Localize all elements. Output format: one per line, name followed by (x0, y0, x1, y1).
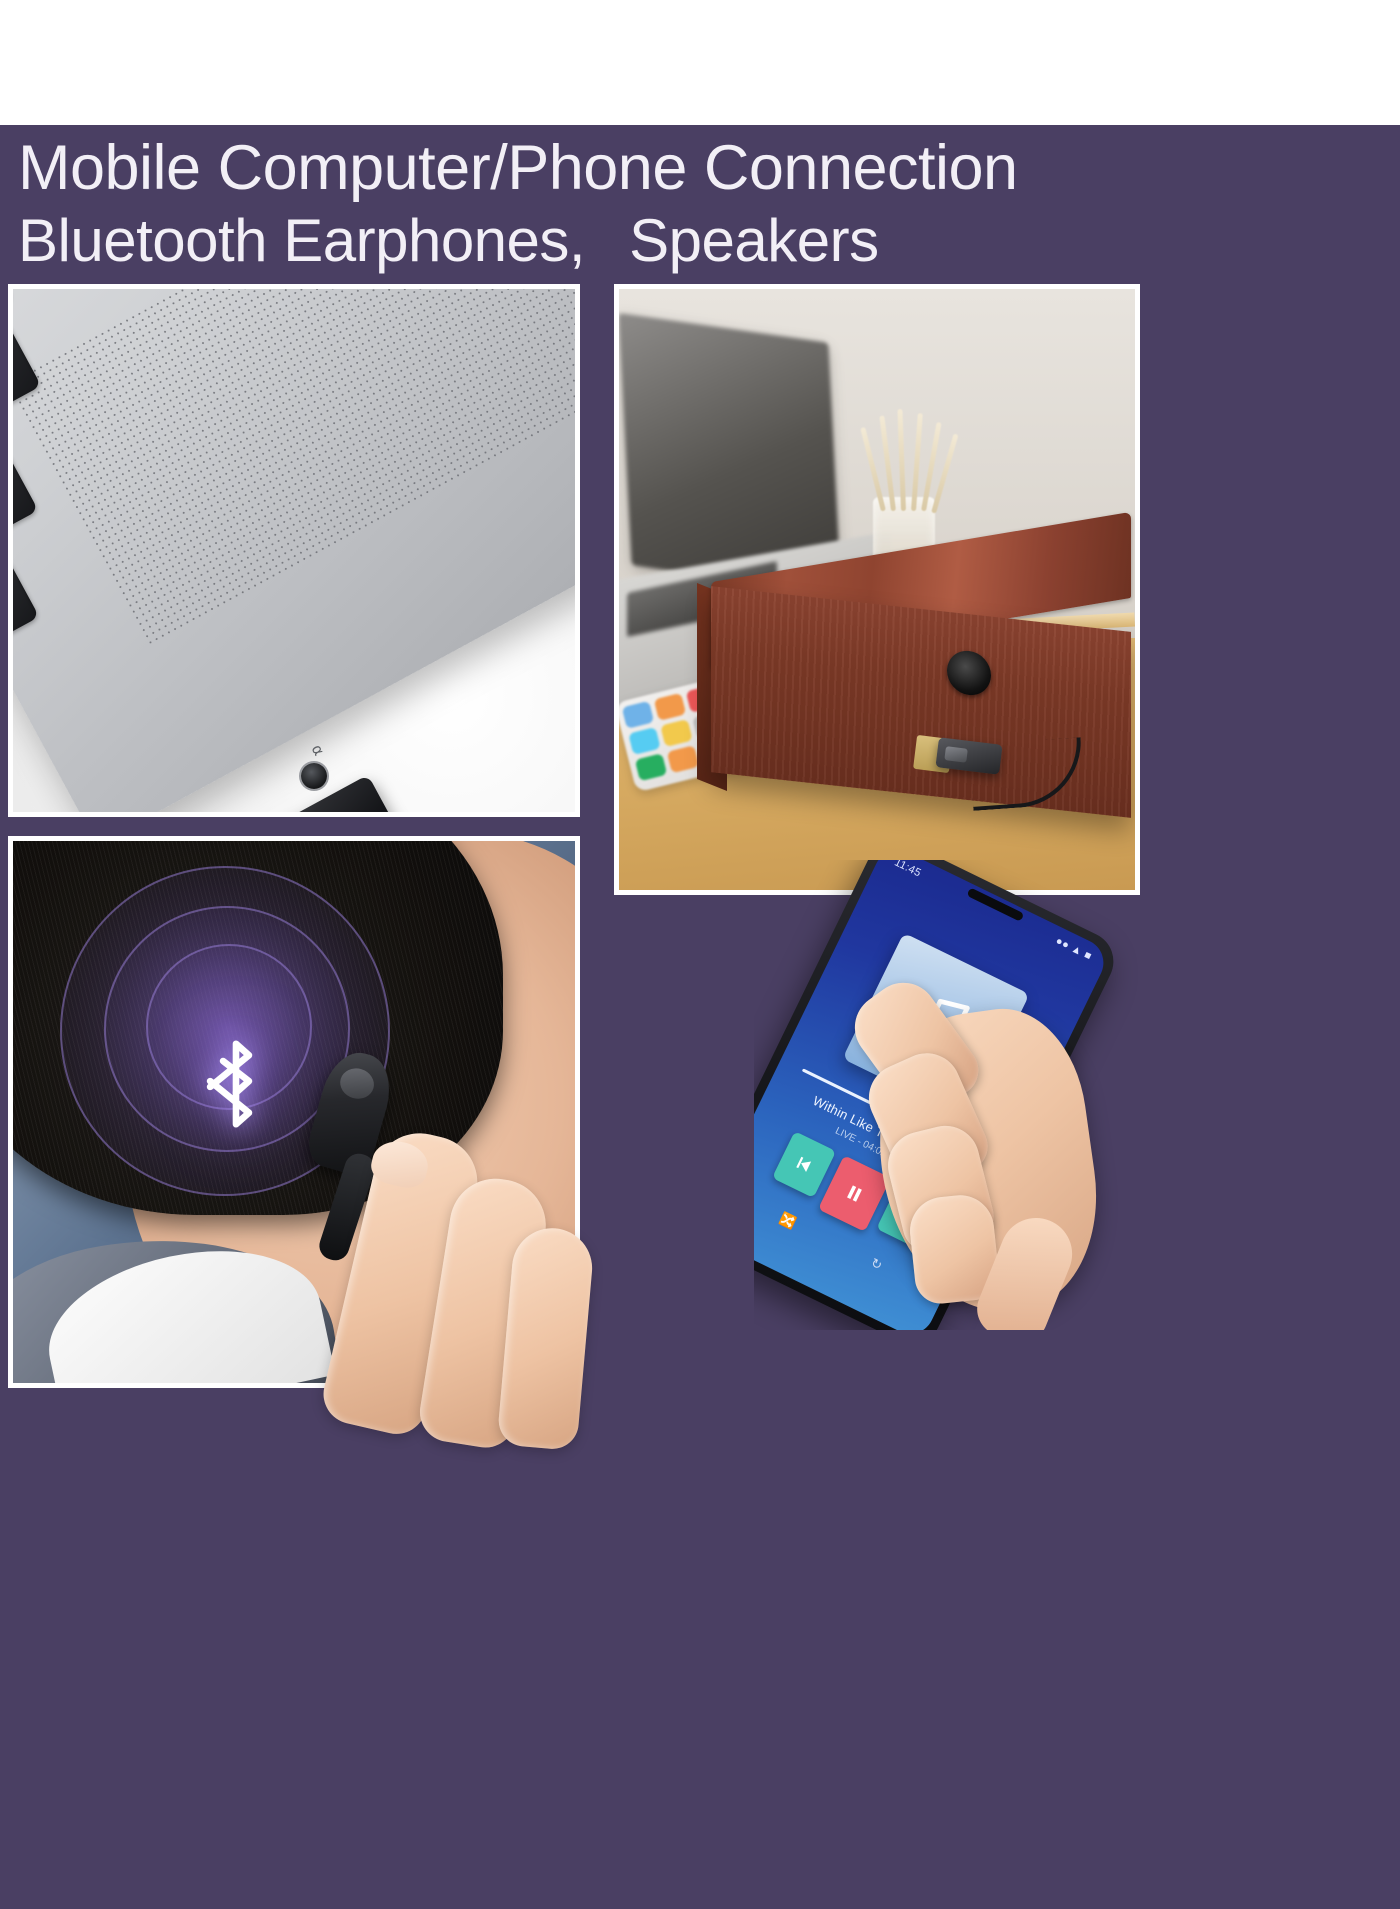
headline-line-2-earphones: Bluetooth Earphones, (18, 207, 585, 274)
headline-line-1: Mobile Computer/Phone Connection (18, 131, 1400, 205)
tab-key-label: tab (13, 488, 34, 562)
keyboard-key-caps-lock: caps lock (13, 321, 41, 458)
bluetooth-icon (196, 1038, 276, 1130)
product-marketing-poster: Mobile Computer/Phone Connection Bluetoo… (0, 0, 1400, 1909)
repeat-icon[interactable]: ↻ (868, 1255, 885, 1274)
previous-track-button[interactable] (772, 1131, 836, 1198)
speaker-photo (619, 289, 1135, 890)
headline-line-2: Bluetooth Earphones,Speakers (18, 205, 1400, 277)
headphone-jack-port (301, 763, 327, 789)
keyboard-key (13, 559, 39, 669)
pause-icon (841, 1179, 869, 1208)
keyboard-key-tab: tab (13, 447, 38, 569)
shuffle-icon[interactable]: 🔀 (777, 1210, 799, 1231)
status-bar-time: 11:45 (890, 860, 923, 885)
phone-music-player-panel: 11:45 ●● ▲ ■ Within Like The First Time (754, 860, 1154, 1330)
headline-block: Mobile Computer/Phone Connection Bluetoo… (0, 125, 1400, 288)
caps-lock-key-label: caps lock (13, 363, 37, 450)
skip-back-icon (791, 1151, 818, 1178)
top-white-margin (0, 0, 1400, 125)
laptop-photo: caps lock tab ⍺ ⎈ ⚡ ⚡ (13, 289, 575, 812)
wooden-bluetooth-speaker-panel (614, 284, 1140, 895)
status-bar-icons: ●● ▲ ■ (1051, 935, 1094, 968)
laptop-usb-dongle-panel: caps lock tab ⍺ ⎈ ⚡ ⚡ (8, 284, 580, 817)
headline-line-2-speakers: Speakers (629, 207, 878, 274)
